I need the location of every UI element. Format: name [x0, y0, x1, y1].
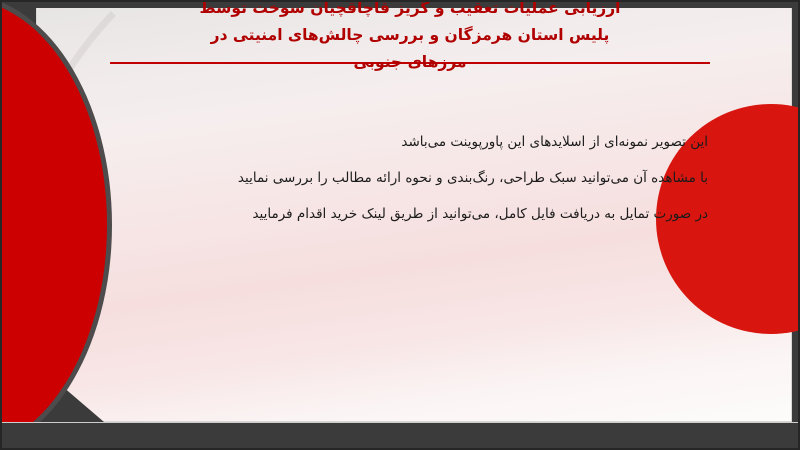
bottom-frame-bar [0, 422, 800, 450]
slide-body-text: این تصویر نمونه‌ای از اسلایدهای این پاور… [108, 124, 708, 232]
bottom-bar-highlight [0, 422, 800, 423]
body-line-2: با مشاهده آن می‌توانید سبک طراحی، رنگ‌بن… [108, 160, 708, 196]
body-line-3: در صورت تمایل به دریافت فایل کامل، می‌تو… [108, 196, 708, 232]
left-crescent-decoration [0, 0, 112, 450]
presentation-slide: ارزیابی عملیات تعقیب و گریز قاچاقچیان سو… [0, 0, 800, 450]
title-line-3-with-rule: مرزهای جنوبی [110, 49, 710, 76]
slide-title: ارزیابی عملیات تعقیب و گریز قاچاقچیان سو… [110, 0, 710, 76]
title-line-2: پلیس استان هرمزگان و بررسی چالش‌های امنی… [110, 22, 710, 49]
red-crescent-shape [0, 0, 112, 450]
title-line-3: مرزهای جنوبی [353, 53, 466, 71]
title-line-1: ارزیابی عملیات تعقیب و گریز قاچاقچیان سو… [110, 0, 710, 22]
body-line-1: این تصویر نمونه‌ای از اسلایدهای این پاور… [108, 124, 708, 160]
